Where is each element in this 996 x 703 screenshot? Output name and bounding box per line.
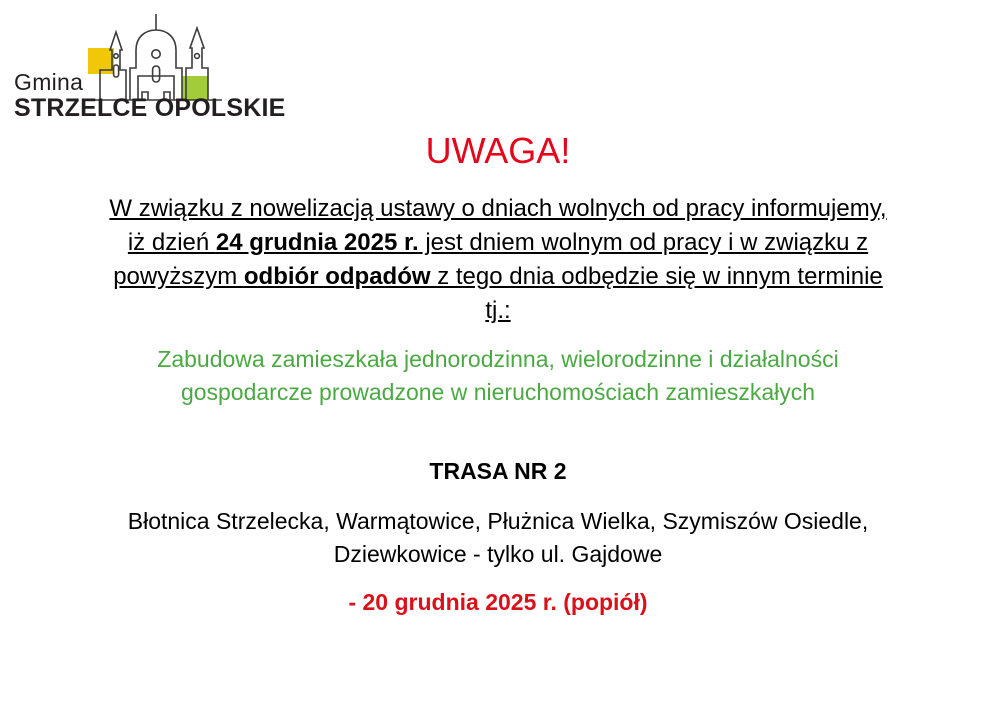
municipality-logo: Gmina STRZELCE OPOLSKIE xyxy=(14,8,229,128)
legal-text-part3: z tego dnia odbędzie się w innym termini… xyxy=(431,263,883,324)
legal-text-waste-bold: odbiór odpadów xyxy=(244,263,431,290)
logo-wordmark: Gmina STRZELCE OPOLSKIE xyxy=(14,70,214,123)
route-heading: TRASA NR 2 xyxy=(0,458,996,486)
property-scope-text: Zabudowa zamieszkała jednorodzinna, wiel… xyxy=(98,343,898,409)
logo-line-strzelce-opolskie: STRZELCE OPOLSKIE xyxy=(14,94,214,123)
notice-title: UWAGA! xyxy=(0,131,996,171)
legal-notice-paragraph: W związku z nowelizacją ustawy o dniach … xyxy=(98,192,898,328)
legal-text-date-bold: 24 grudnia 2025 r. xyxy=(216,229,419,256)
route-street-list: Błotnica Strzelecka, Warmątowice, Płużni… xyxy=(70,505,926,571)
collection-date: - 20 grudnia 2025 r. (popiół) xyxy=(0,589,996,617)
logo-line-gmina: Gmina xyxy=(14,70,214,94)
